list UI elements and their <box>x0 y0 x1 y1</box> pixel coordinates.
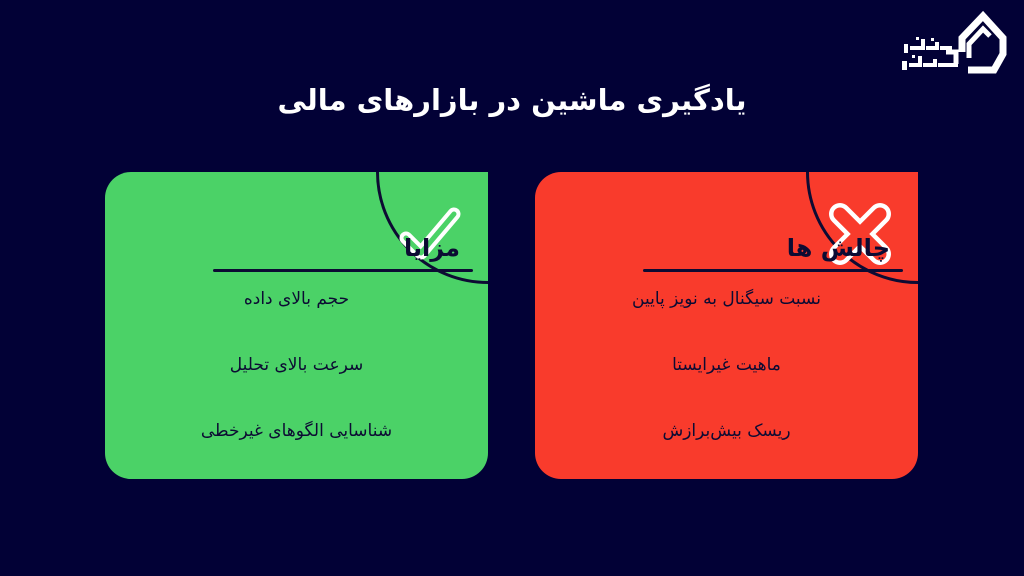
card-advantages-divider <box>213 269 473 272</box>
list-item: ریسک بیش‌برازش <box>535 420 918 444</box>
card-challenges-divider <box>643 269 903 272</box>
card-challenges: چالش ها نسبت سیگنال به نویز پایین ماهیت … <box>535 172 918 479</box>
list-item: حجم بالای داده <box>105 288 488 312</box>
list-item: ماهیت غیرایستا <box>535 354 918 378</box>
list-item: نسبت سیگنال به نویز پایین <box>535 288 918 312</box>
card-challenges-heading: چالش ها <box>787 234 890 263</box>
khane-sarmaye-logo <box>890 8 1008 80</box>
slide-canvas: یادگیری ماشین در بازارهای مالی مزایا حجم… <box>0 0 1024 576</box>
card-challenges-list: نسبت سیگنال به نویز پایین ماهیت غیرایستا… <box>535 288 918 443</box>
card-advantages-heading: مزایا <box>404 234 460 263</box>
card-advantages-list: حجم بالای داده سرعت بالای تحلیل شناسایی … <box>105 288 488 443</box>
page-title: یادگیری ماشین در بازارهای مالی <box>0 79 1024 121</box>
list-item: سرعت بالای تحلیل <box>105 354 488 378</box>
card-advantages: مزایا حجم بالای داده سرعت بالای تحلیل شن… <box>105 172 488 479</box>
house-pentagon-icon <box>946 16 1003 70</box>
list-item: شناسایی الگوهای غیرخطی <box>105 420 488 444</box>
